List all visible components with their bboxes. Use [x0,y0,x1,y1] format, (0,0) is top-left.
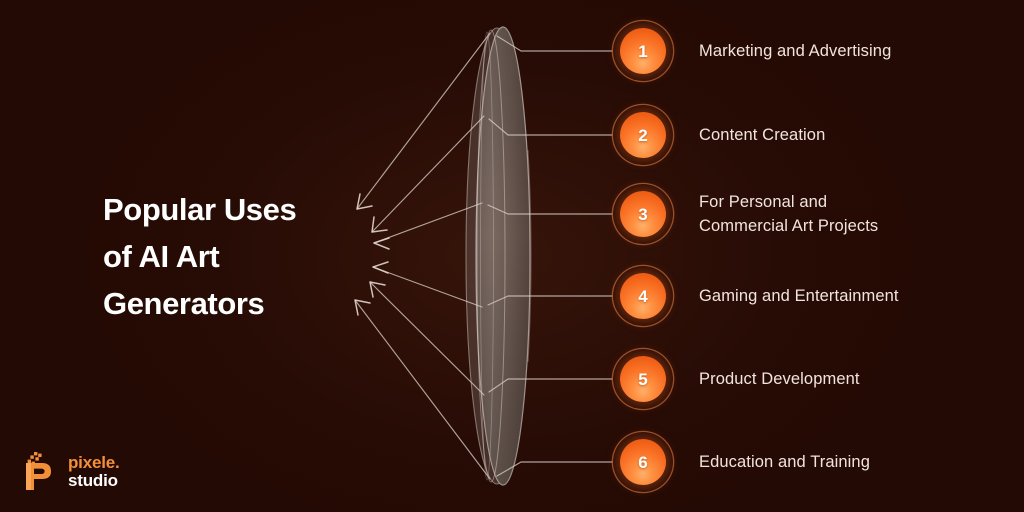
brand-logo-line-1: pixele. [68,454,120,471]
list-item-1[interactable]: 1 Marketing and Advertising [613,20,891,82]
number-badge-1: 1 [613,21,673,81]
title-line-1: Popular Uses [103,186,373,233]
list-item-3[interactable]: 3 For Personal and Commercial Art Projec… [613,183,878,245]
number-badge-6: 6 [613,432,673,492]
number-badge-digit-2: 2 [638,127,647,144]
number-badge-digit-5: 5 [638,371,647,388]
list-item-6[interactable]: 6 Education and Training [613,431,870,493]
number-badge-digit-1: 1 [638,43,647,60]
list-item-label-4: Gaming and Entertainment [699,284,899,308]
number-badge-fill-6: 6 [620,439,666,485]
list-item-label-2: Content Creation [699,123,825,147]
brand-logo-text: pixele. studio [68,454,120,489]
number-badge-fill-4: 4 [620,273,666,319]
list-item-4[interactable]: 4 Gaming and Entertainment [613,265,899,327]
number-badge-digit-3: 3 [638,206,647,223]
title-line-3: Generators [103,280,373,327]
number-badge-5: 5 [613,349,673,409]
list-item-label-1: Marketing and Advertising [699,39,891,63]
number-badge-3: 3 [613,184,673,244]
list-item-label-5: Product Development [699,367,860,391]
number-badge-fill-2: 2 [620,112,666,158]
number-badge-digit-6: 6 [638,454,647,471]
infographic-canvas: Popular Uses of AI Art Generators 1 Mark… [0,0,1024,512]
number-badge-2: 2 [613,105,673,165]
number-badge-fill-1: 1 [620,28,666,74]
list-item-2[interactable]: 2 Content Creation [613,104,825,166]
list-item-5[interactable]: 5 Product Development [613,348,860,410]
title-line-2: of AI Art [103,233,373,280]
list-item-label-6: Education and Training [699,450,870,474]
pixelated-p-logo-icon [22,452,58,490]
number-badge-fill-5: 5 [620,356,666,402]
number-badge-fill-3: 3 [620,191,666,237]
brand-logo-line-2: studio [68,472,120,489]
number-badge-digit-4: 4 [638,288,647,305]
brand-logo[interactable]: pixele. studio [22,452,120,490]
number-badge-4: 4 [613,266,673,326]
list-item-label-3: For Personal and Commercial Art Projects [699,190,878,238]
page-title: Popular Uses of AI Art Generators [103,186,373,327]
